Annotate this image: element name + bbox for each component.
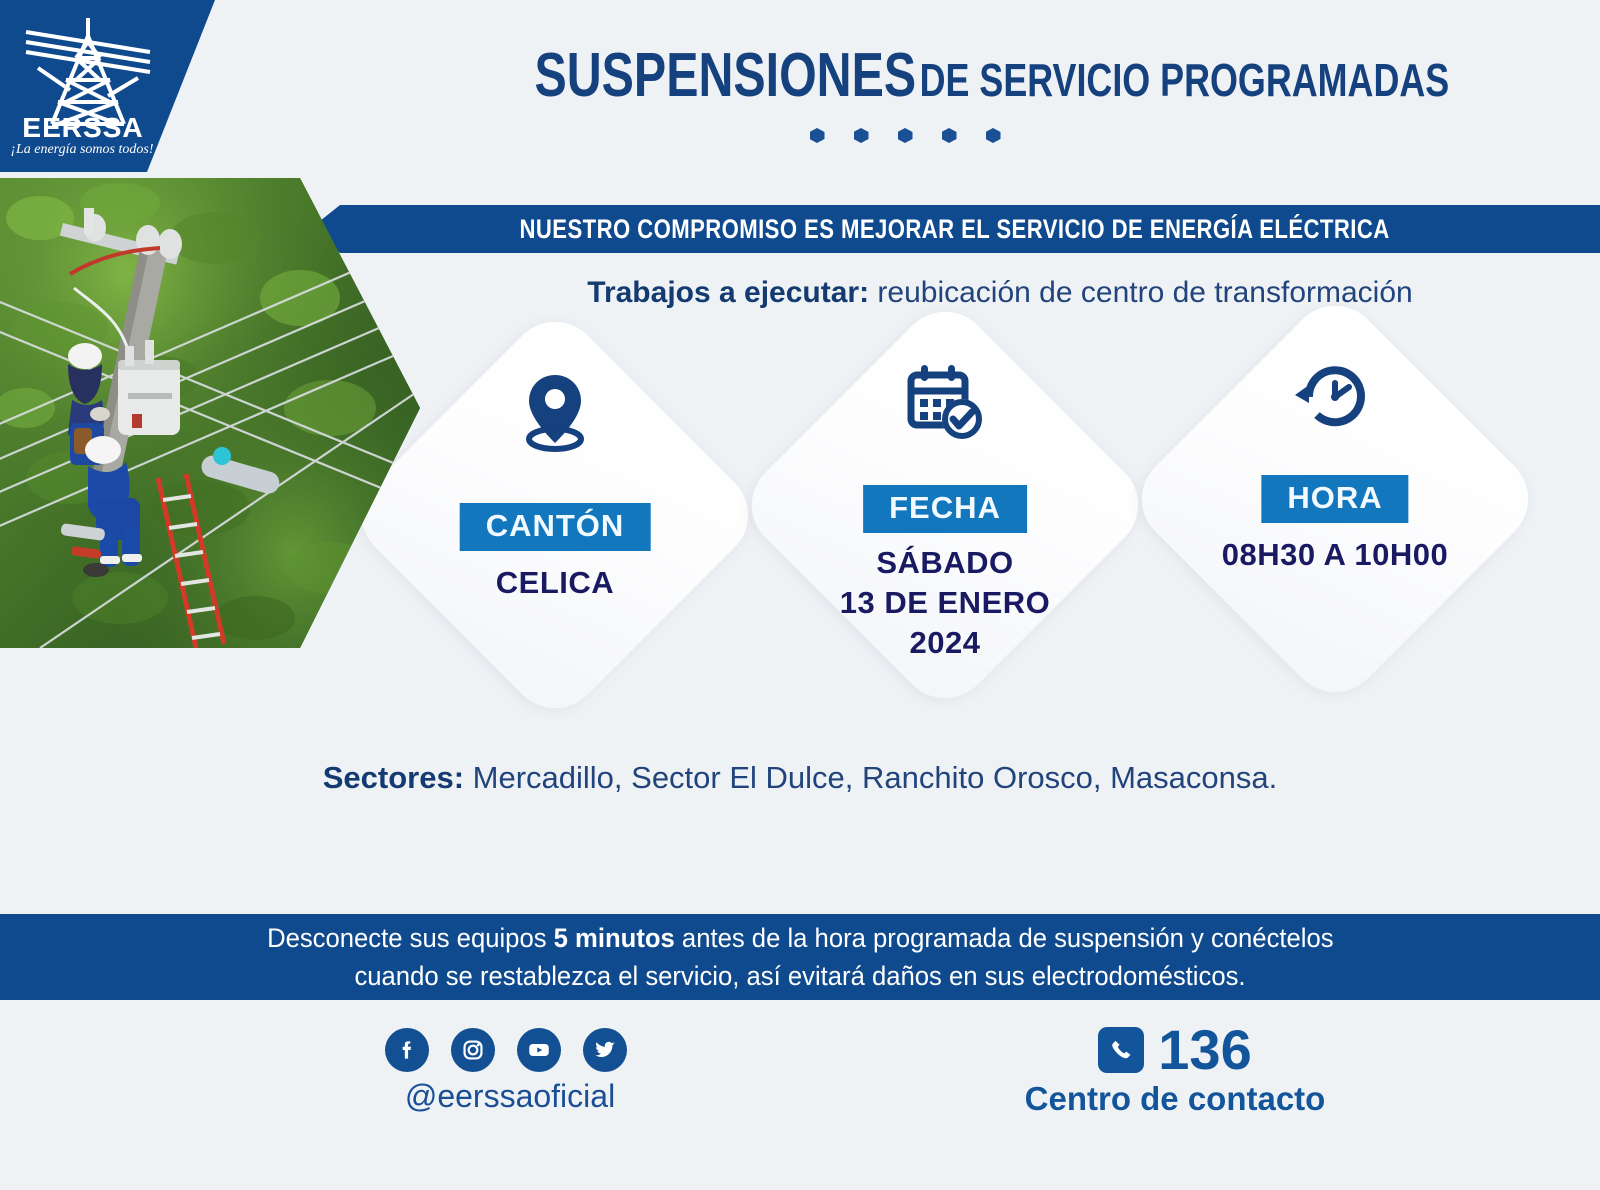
- sectors-label: Sectores:: [323, 760, 464, 795]
- page-title: SUSPENSIONES DE SERVICIO PROGRAMADAS: [430, 40, 1380, 111]
- sectors-value: Mercadillo, Sector El Dulce, Ranchito Or…: [464, 760, 1277, 795]
- notice-bar: Desconecte sus equipos 5 minutos antes d…: [0, 914, 1600, 1000]
- notice-line-1: Desconecte sus equipos 5 minutos antes d…: [267, 919, 1334, 957]
- twitter-icon[interactable]: [583, 1028, 627, 1072]
- notice-line1-c: antes de la hora programada de suspensió…: [674, 923, 1333, 953]
- notice-line1-a: Desconecte sus equipos: [267, 923, 554, 953]
- works-label: Trabajos a ejecutar:: [587, 276, 869, 309]
- notice-highlight: 5 minutos: [553, 923, 674, 953]
- dot-icon: [854, 128, 869, 143]
- dot-icon: [898, 128, 913, 143]
- info-card-fecha: FECHA SÁBADO 13 DE ENERO 2024: [750, 335, 1140, 665]
- logo-tagline: ¡La energía somos todos!: [2, 142, 162, 158]
- clock-restore-icon: [1289, 351, 1381, 443]
- card-chip-hora: HORA: [1261, 475, 1408, 523]
- poster-canvas: EERSSA ¡La energía somos todos! SUSPENSI…: [0, 0, 1600, 1190]
- works-value: reubicación de centro de transformación: [869, 276, 1413, 309]
- dot-icon: [810, 128, 825, 143]
- card-value-fecha: SÁBADO 13 DE ENERO 2024: [750, 543, 1140, 663]
- dot-icon: [942, 128, 957, 143]
- sectors-line: Sectores: Mercadillo, Sector El Dulce, R…: [100, 760, 1500, 796]
- commitment-banner-text: NUESTRO COMPROMISO ES MEJORAR EL SERVICI…: [520, 214, 1390, 245]
- logo-block: EERSSA ¡La energía somos todos!: [0, 0, 215, 172]
- info-card-canton: CANTÓN CELICA: [360, 345, 750, 675]
- youtube-icon[interactable]: [517, 1028, 561, 1072]
- phone-icon: [1098, 1027, 1144, 1073]
- dot-icon: [986, 128, 1001, 143]
- notice-line-2: cuando se restablezca el servicio, así e…: [354, 957, 1245, 995]
- calendar-check-icon: [899, 357, 991, 449]
- contact-center-label: Centro de contacto: [985, 1080, 1365, 1118]
- commitment-banner: NUESTRO COMPROMISO ES MEJORAR EL SERVICI…: [310, 205, 1600, 253]
- title-dots: [430, 128, 1380, 143]
- info-card-hora: HORA 08H30 A 10H00: [1140, 329, 1530, 659]
- card-value-hora: 08H30 A 10H00: [1140, 535, 1530, 575]
- instagram-icon[interactable]: [451, 1028, 495, 1072]
- facebook-icon[interactable]: [385, 1028, 429, 1072]
- card-chip-canton: CANTÓN: [460, 503, 651, 551]
- card-value-canton: CELICA: [360, 563, 750, 603]
- phone-number: 136: [1158, 1022, 1251, 1078]
- contact-phone[interactable]: 136: [1010, 1022, 1340, 1078]
- works-line: Trabajos a ejecutar: reubicación de cent…: [420, 276, 1580, 310]
- title-bold: SUSPENSIONES: [535, 41, 917, 110]
- info-cards: CANTÓN CELICA: [360, 345, 1600, 675]
- card-chip-fecha: FECHA: [863, 485, 1027, 533]
- title-light: DE SERVICIO PROGRAMADAS: [920, 54, 1450, 106]
- social-links[interactable]: [385, 1028, 627, 1072]
- location-pin-icon: [509, 367, 601, 459]
- social-handle: @eerssaoficial: [330, 1078, 690, 1115]
- title-row: SUSPENSIONES DE SERVICIO PROGRAMADAS: [535, 40, 1276, 111]
- logo-wordmark: EERSSA: [8, 112, 158, 144]
